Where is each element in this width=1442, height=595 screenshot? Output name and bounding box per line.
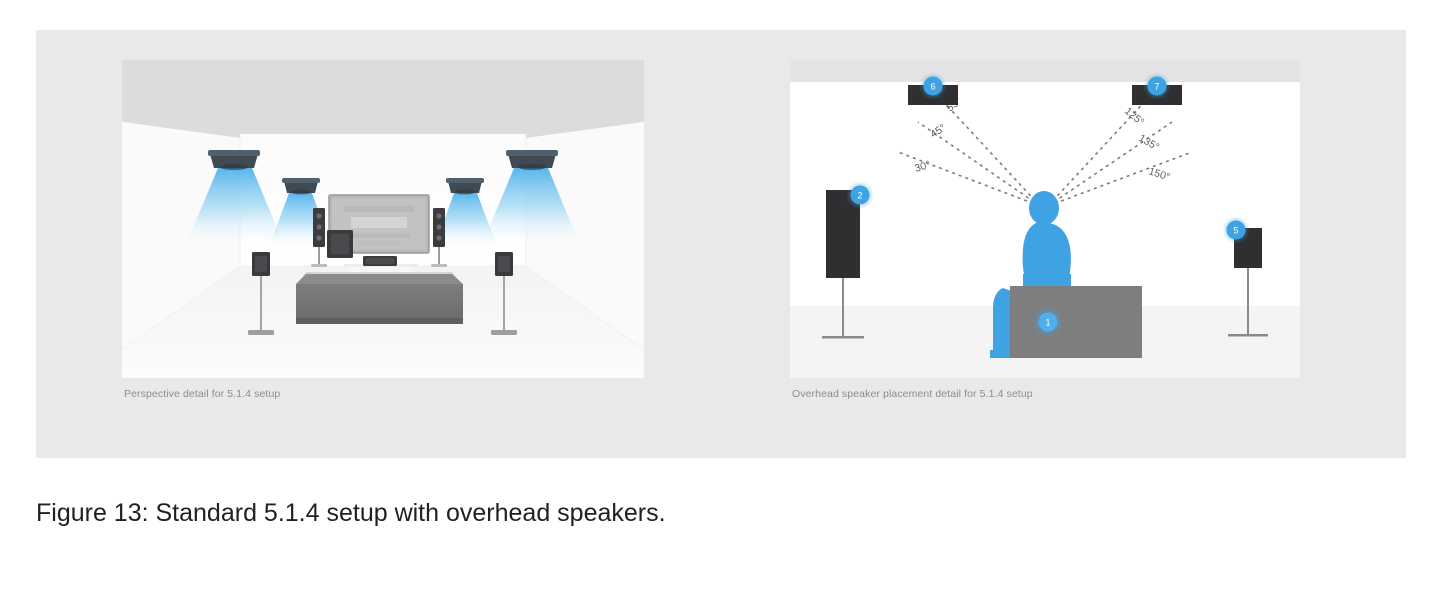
top-band — [790, 60, 1300, 82]
overhead-placement-caption: Overhead speaker placement detail for 5.… — [792, 388, 1033, 400]
badge-6[interactable]: 6 — [919, 72, 947, 100]
badge-1-label: 1 — [1045, 318, 1050, 328]
overhead-placement-illustration: 55° 45° 30° 125° 135° 150° — [790, 60, 1300, 378]
badge-1[interactable]: 1 — [1033, 307, 1063, 337]
center-speaker — [363, 256, 397, 266]
ceiling-speaker-rear-left — [282, 178, 320, 194]
badge-6-label: 6 — [930, 82, 935, 92]
badge-5-label: 5 — [1233, 226, 1238, 236]
perspective-illustration — [122, 60, 644, 378]
listener-seat — [1010, 286, 1142, 358]
ceiling-speaker-front-right — [506, 150, 558, 170]
ceiling — [122, 60, 644, 138]
badge-5[interactable]: 5 — [1222, 216, 1250, 244]
badge-2-label: 2 — [857, 191, 862, 201]
badge-2[interactable]: 2 — [846, 181, 874, 209]
perspective-caption: Perspective detail for 5.1.4 setup — [124, 388, 280, 400]
subwoofer — [327, 230, 353, 258]
perspective-scene-svg — [122, 60, 644, 378]
figure-caption: Figure 13: Standard 5.1.4 setup with ove… — [36, 500, 666, 528]
sofa — [296, 272, 463, 324]
badge-7-label: 7 — [1154, 82, 1159, 92]
ceiling-speaker-front-left — [208, 150, 260, 170]
ceiling-speaker-rear-right — [446, 178, 484, 194]
figure-panel: Perspective detail for 5.1.4 setup — [36, 30, 1406, 458]
badge-7[interactable]: 7 — [1143, 72, 1171, 100]
overhead-angle-svg: 55° 45° 30° 125° 135° 150° — [790, 60, 1300, 378]
